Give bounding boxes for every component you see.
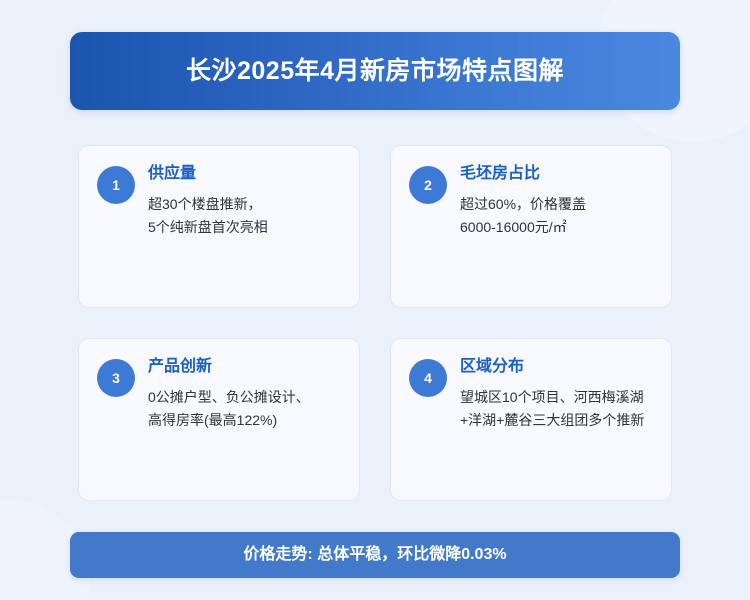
- card-description: 0公摊户型、负公摊设计、 高得房率(最高122%): [148, 386, 310, 432]
- infographic-canvas: 长沙2025年4月新房市场特点图解 1 供应量 超30个楼盘推新， 5个纯新盘首…: [0, 0, 750, 600]
- card-description: 超过60%，价格覆盖 6000-16000元/㎡: [460, 193, 586, 239]
- card-content: 产品创新 0公摊户型、负公摊设计、 高得房率(最高122%): [148, 356, 310, 432]
- card-number-badge: 1: [97, 166, 135, 204]
- card-title: 区域分布: [460, 357, 644, 377]
- card-content: 区域分布 望城区10个项目、河西梅溪湖 +洋湖+麓谷三大组团多个推新: [460, 356, 644, 432]
- feature-card-product-innovation: 3 产品创新 0公摊户型、负公摊设计、 高得房率(最高122%): [78, 338, 360, 501]
- card-content: 毛坯房占比 超过60%，价格覆盖 6000-16000元/㎡: [460, 163, 586, 239]
- feature-card-regional-distribution: 4 区域分布 望城区10个项目、河西梅溪湖 +洋湖+麓谷三大组团多个推新: [390, 338, 672, 501]
- card-title: 毛坯房占比: [460, 164, 586, 184]
- card-description: 望城区10个项目、河西梅溪湖 +洋湖+麓谷三大组团多个推新: [460, 386, 644, 432]
- card-title: 产品创新: [148, 357, 310, 377]
- card-number-badge: 2: [409, 166, 447, 204]
- header-banner: 长沙2025年4月新房市场特点图解: [70, 32, 680, 110]
- feature-card-rough-house-share: 2 毛坯房占比 超过60%，价格覆盖 6000-16000元/㎡: [390, 145, 672, 308]
- feature-card-supply: 1 供应量 超30个楼盘推新， 5个纯新盘首次亮相: [78, 145, 360, 308]
- feature-card-grid: 1 供应量 超30个楼盘推新， 5个纯新盘首次亮相 2 毛坯房占比 超过60%，…: [78, 145, 672, 501]
- card-number-badge: 4: [409, 359, 447, 397]
- card-title: 供应量: [148, 164, 268, 184]
- page-title: 长沙2025年4月新房市场特点图解: [186, 59, 564, 84]
- price-trend-summary: 价格走势: 总体平稳，环比微降0.03%: [243, 547, 506, 563]
- footer-banner: 价格走势: 总体平稳，环比微降0.03%: [70, 532, 680, 578]
- card-number-badge: 3: [97, 359, 135, 397]
- card-description: 超30个楼盘推新， 5个纯新盘首次亮相: [148, 193, 268, 239]
- card-content: 供应量 超30个楼盘推新， 5个纯新盘首次亮相: [148, 163, 268, 239]
